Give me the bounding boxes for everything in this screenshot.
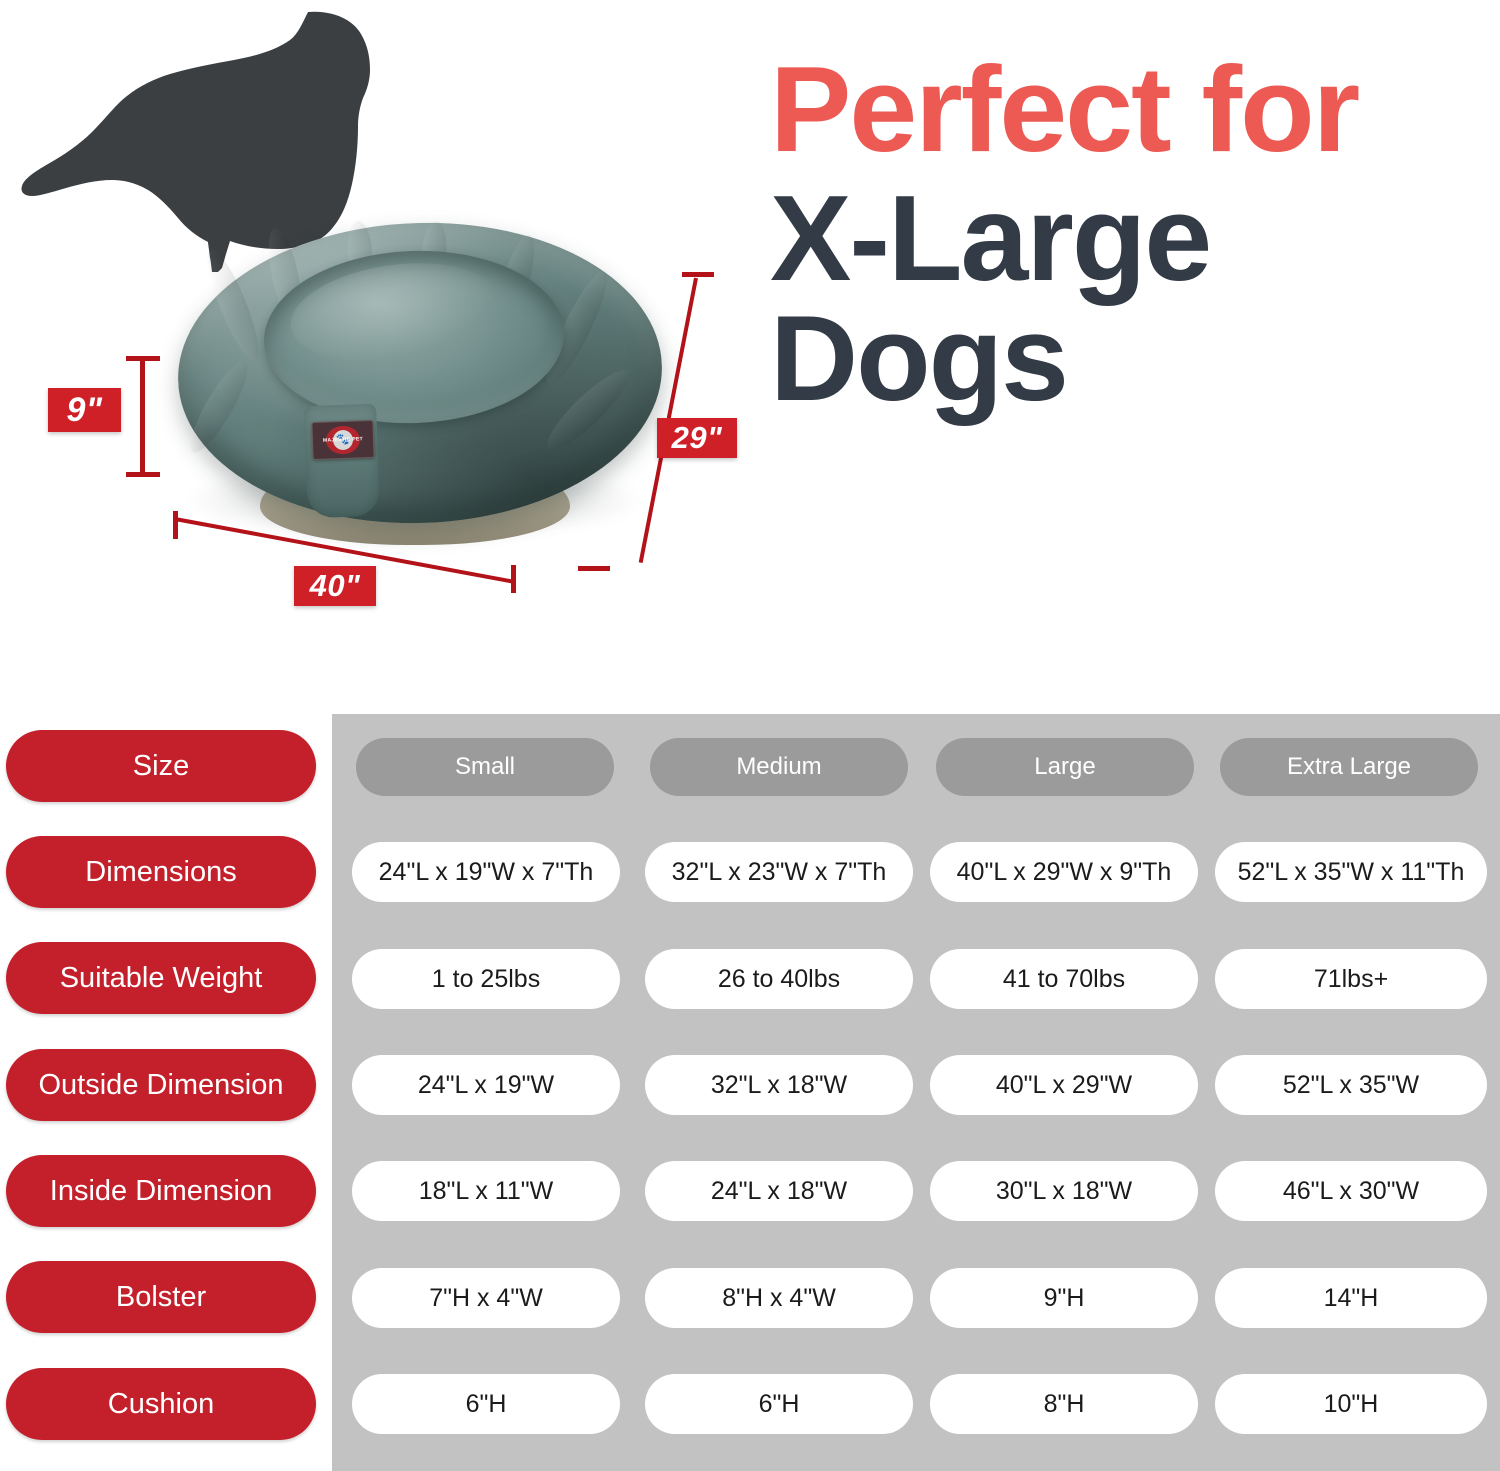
brand-tag: 🐾 MAJESTIC PET xyxy=(311,420,374,460)
height-dim-cap-top xyxy=(126,356,160,361)
width-dim-cap-bottom xyxy=(578,566,610,571)
column-header-medium: Medium xyxy=(650,738,908,796)
headline-line-1: Perfect for xyxy=(770,52,1490,167)
headline-line-2: X-Large xyxy=(770,181,1490,296)
row-label-outside-dimension: Outside Dimension xyxy=(6,1049,316,1121)
specification-table: Size Dimensions Suitable Weight Outside … xyxy=(0,700,1500,1471)
cell-inside-small: 18"L x 11"W xyxy=(352,1161,620,1221)
cell-outside-extra-large: 52"L x 35"W xyxy=(1215,1055,1487,1115)
headline-line-3: Dogs xyxy=(770,301,1490,416)
cell-dimensions-large: 40"L x 29"W x 9"Th xyxy=(930,842,1198,902)
cell-cushion-medium: 6"H xyxy=(645,1374,913,1434)
row-label-dimensions: Dimensions xyxy=(6,836,316,908)
cell-weight-extra-large: 71lbs+ xyxy=(1215,949,1487,1009)
callout-length: 40" xyxy=(294,566,376,606)
cell-dimensions-medium: 32"L x 23"W x 7"Th xyxy=(645,842,913,902)
cell-cushion-large: 8"H xyxy=(930,1374,1198,1434)
cell-bolster-large: 9"H xyxy=(930,1268,1198,1328)
cell-cushion-extra-large: 10"H xyxy=(1215,1374,1487,1434)
cell-weight-medium: 26 to 40lbs xyxy=(645,949,913,1009)
callout-height: 9" xyxy=(48,388,121,432)
row-label-suitable-weight: Suitable Weight xyxy=(6,942,316,1014)
cell-inside-extra-large: 46"L x 30"W xyxy=(1215,1161,1487,1221)
cell-bolster-medium: 8"H x 4"W xyxy=(645,1268,913,1328)
row-label-column: Size Dimensions Suitable Weight Outside … xyxy=(0,700,332,1457)
height-dim-cap-bottom xyxy=(126,472,160,477)
row-label-cushion: Cushion xyxy=(6,1368,316,1440)
cell-dimensions-extra-large: 52"L x 35"W x 11"Th xyxy=(1215,842,1487,902)
hero-section: 🐾 MAJESTIC PET 9" 40" 29" Perfect for X-… xyxy=(0,0,1500,700)
row-label-inside-dimension: Inside Dimension xyxy=(6,1155,316,1227)
length-dim-cap-right xyxy=(511,565,516,593)
cell-outside-small: 24"L x 19"W xyxy=(352,1055,620,1115)
cell-dimensions-small: 24"L x 19"W x 7"Th xyxy=(352,842,620,902)
length-dim-cap-left xyxy=(173,511,178,539)
cell-outside-medium: 32"L x 18"W xyxy=(645,1055,913,1115)
cell-bolster-small: 7"H x 4"W xyxy=(352,1268,620,1328)
width-dim-cap-top xyxy=(682,272,714,277)
height-dim-line xyxy=(140,358,145,476)
brand-tag-label: MAJESTIC PET xyxy=(312,421,373,459)
cell-outside-large: 40"L x 29"W xyxy=(930,1055,1198,1115)
column-header-small: Small xyxy=(356,738,614,796)
row-label-bolster: Bolster xyxy=(6,1261,316,1333)
cell-cushion-small: 6"H xyxy=(352,1374,620,1434)
row-label-size: Size xyxy=(6,730,316,802)
column-header-large: Large xyxy=(936,738,1194,796)
callout-width: 29" xyxy=(657,418,737,458)
cell-bolster-extra-large: 14"H xyxy=(1215,1268,1487,1328)
cell-weight-large: 41 to 70lbs xyxy=(930,949,1198,1009)
headline: Perfect for X-Large Dogs xyxy=(770,52,1490,416)
cell-weight-small: 1 to 25lbs xyxy=(352,949,620,1009)
cell-inside-medium: 24"L x 18"W xyxy=(645,1161,913,1221)
column-header-extra-large: Extra Large xyxy=(1220,738,1478,796)
product-photo: 🐾 MAJESTIC PET xyxy=(160,205,680,565)
cell-inside-large: 30"L x 18"W xyxy=(930,1161,1198,1221)
